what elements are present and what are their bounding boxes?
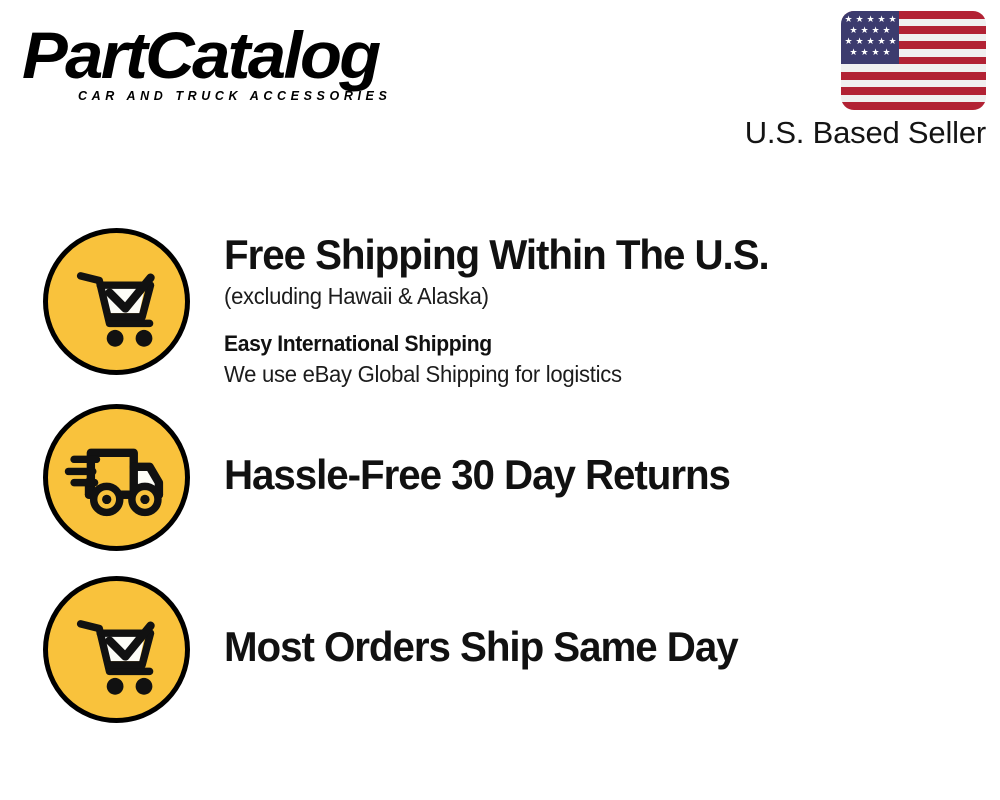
seller-badge-label: U.S. Based Seller <box>714 116 986 150</box>
feature-row: Hassle-Free 30 Day Returns <box>0 404 1000 551</box>
seller-info-banner: PartCatalog CAR AND TRUCK ACCESSORIES ★ … <box>0 0 1000 800</box>
feature-text-block: Free Shipping Within The U.S. (excluding… <box>224 228 1000 388</box>
delivery-truck-icon <box>43 404 190 551</box>
shopping-cart-check-icon <box>43 228 190 375</box>
brand-logo: PartCatalog CAR AND TRUCK ACCESSORIES <box>22 22 492 103</box>
feature-text-block: Most Orders Ship Same Day <box>224 576 1000 669</box>
feature-heading: Free Shipping Within The U.S. <box>224 232 969 277</box>
banner-header: PartCatalog CAR AND TRUCK ACCESSORIES ★ … <box>0 0 1000 175</box>
feature-heading: Most Orders Ship Same Day <box>224 624 969 669</box>
feature-heading: Hassle-Free 30 Day Returns <box>224 452 969 497</box>
brand-wordmark: PartCatalog <box>22 22 511 88</box>
us-flag-icon: ★ ★ ★ ★ ★ ★ ★ ★ ★ ★ ★ ★ ★ ★ ★ ★ ★ <box>841 11 986 110</box>
feature-row: Most Orders Ship Same Day <box>0 576 1000 723</box>
flag-canton: ★ ★ ★ ★ ★ ★ ★ ★ ★ ★ ★ ★ ★ ★ ★ ★ ★ <box>841 11 899 64</box>
us-based-seller-badge: ★ ★ ★ ★ ★ ★ ★ ★ ★ ★ ★ ★ ★ ★ ★ ★ ★ <box>714 11 986 150</box>
feature-subtext: (excluding Hawaii & Alaska) <box>224 282 969 311</box>
feature-row: Free Shipping Within The U.S. (excluding… <box>0 228 1000 388</box>
feature-text-block: Hassle-Free 30 Day Returns <box>224 404 1000 497</box>
feature-subtext-secondary: We use eBay Global Shipping for logistic… <box>224 360 969 389</box>
shopping-cart-check-icon <box>43 576 190 723</box>
feature-subtext-bold: Easy International Shipping <box>224 330 969 358</box>
